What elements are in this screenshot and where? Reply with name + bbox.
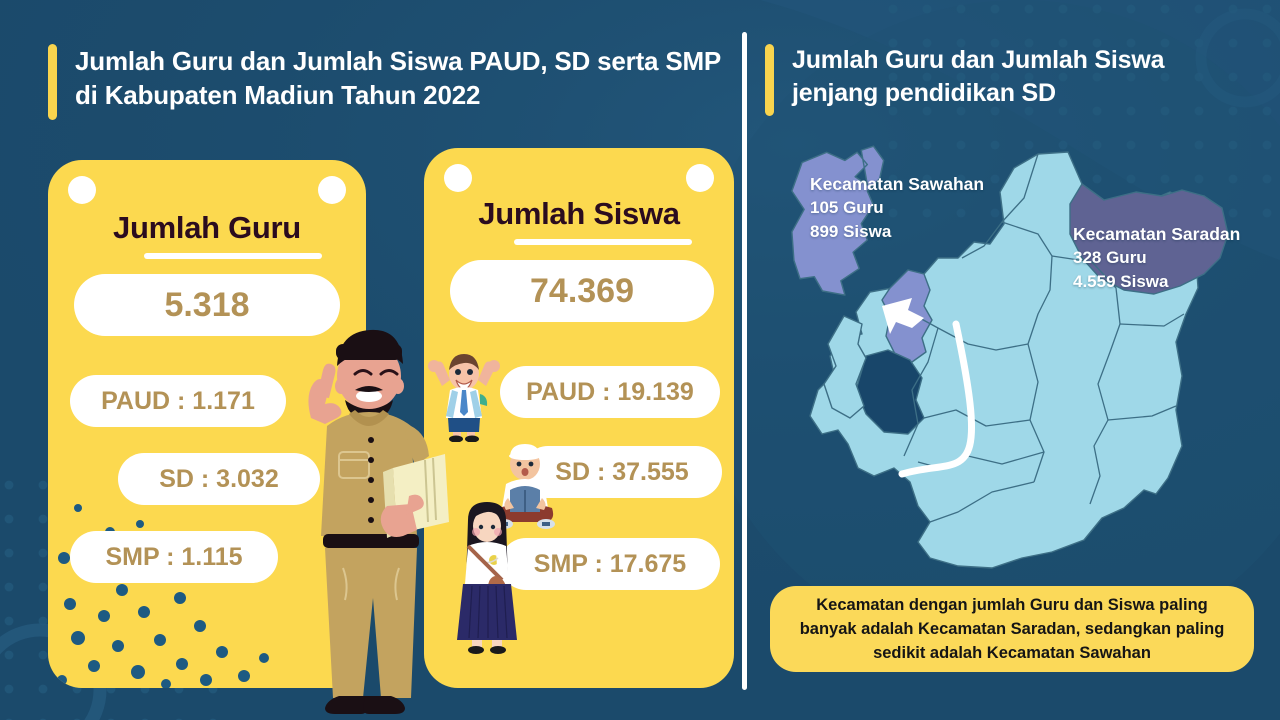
card-title-underline (514, 239, 692, 245)
map-caption: Kecamatan dengan jumlah Guru dan Siswa p… (770, 586, 1254, 672)
card-title-guru: Jumlah Guru (48, 210, 366, 246)
student-girl-illustration (448, 500, 526, 660)
map-label-saradan-head: Kecamatan Saradan (1073, 222, 1240, 246)
guru-smp-pill: SMP : 1.115 (70, 531, 278, 583)
vertical-divider (742, 32, 747, 690)
student-cheering-illustration (424, 352, 504, 442)
map-label-saradan: Kecamatan Saradan 328 Guru 4.559 Siswa (1073, 222, 1240, 294)
map-label-sawahan-siswa: 899 Siswa (810, 220, 984, 244)
title-accent-bar (48, 44, 57, 120)
card-hole-right (318, 176, 346, 204)
map-label-saradan-siswa: 4.559 Siswa (1073, 270, 1240, 294)
card-hole-left (444, 164, 472, 192)
map-label-saradan-guru: 328 Guru (1073, 246, 1240, 270)
siswa-smp-pill: SMP : 17.675 (500, 538, 720, 590)
map-region-west-tail (824, 316, 866, 418)
right-title-text: Jumlah Guru dan Jumlah Siswa jenjang pen… (792, 44, 1252, 110)
card-title-siswa: Jumlah Siswa (424, 196, 734, 232)
map-label-sawahan: Kecamatan Sawahan 105 Guru 899 Siswa (810, 172, 984, 244)
title-accent-bar (765, 44, 774, 116)
left-panel-title: Jumlah Guru dan Jumlah Siswa PAUD, SD se… (48, 44, 735, 120)
card-title-underline (144, 253, 322, 259)
left-title-text: Jumlah Guru dan Jumlah Siswa PAUD, SD se… (75, 44, 735, 112)
card-hole-left (68, 176, 96, 204)
right-panel-title: Jumlah Guru dan Jumlah Siswa jenjang pen… (765, 44, 1252, 116)
map-label-sawahan-head: Kecamatan Sawahan (810, 172, 984, 196)
card-hole-right (686, 164, 714, 192)
map-label-sawahan-guru: 105 Guru (810, 196, 984, 220)
siswa-total-pill: 74.369 (450, 260, 714, 322)
siswa-paud-pill: PAUD : 19.139 (500, 366, 720, 418)
guru-paud-pill: PAUD : 1.171 (70, 375, 286, 427)
